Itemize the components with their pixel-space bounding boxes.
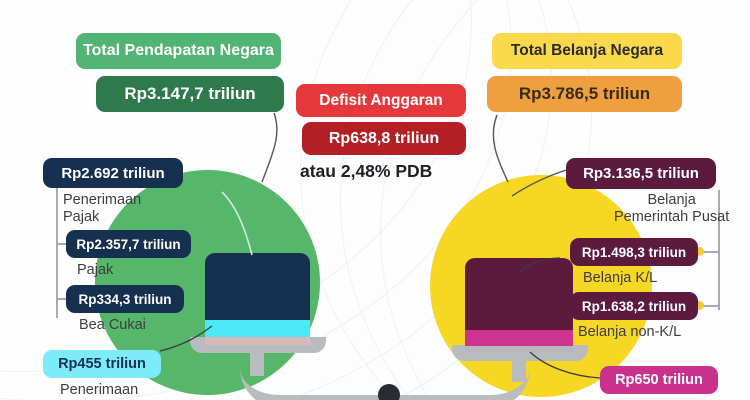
caption-line: Penerimaan <box>63 192 141 209</box>
spending-item-kl-caption: Belanja K/L <box>583 270 657 287</box>
spending-bracket-tick <box>702 251 720 253</box>
revenue-item-penerimaan-value: Rp455 triliun <box>43 350 161 378</box>
spending-header-label: Total Belanja Negara <box>492 33 682 69</box>
revenue-item-beacukai-value: Rp334,3 triliun <box>66 285 184 313</box>
deficit-total-value: Rp638,8 triliun <box>302 122 466 155</box>
revenue-stacked-bar <box>205 253 310 345</box>
spending-item-nonkl-caption: Belanja non-K/L <box>578 324 681 341</box>
deficit-header-label: Defisit Anggaran <box>296 84 466 117</box>
scale-pivot <box>378 384 400 400</box>
spending-item-central-caption: Belanja Pemerintah Pusat <box>614 192 729 226</box>
caption-line: Belanja <box>614 192 729 209</box>
deficit-pdb-note: atau 2,48% PDB <box>300 163 432 180</box>
revenue-header-label: Total Pendapatan Negara <box>76 33 281 69</box>
spending-item-transfer-value: Rp650 triliun <box>600 366 718 394</box>
revenue-total-value: Rp3.147,7 triliun <box>96 76 284 112</box>
revenue-item-pajak-caption: Pajak <box>77 262 113 279</box>
spending-item-nonkl-value: Rp1.638,2 triliun <box>570 292 698 320</box>
spending-bar-base-segment <box>465 346 573 353</box>
spending-bar-transfer-segment <box>465 330 573 346</box>
revenue-item-tax-value: Rp2.692 triliun <box>43 158 183 188</box>
revenue-item-pajak-value: Rp2.357,7 triliun <box>66 230 191 258</box>
revenue-bar-base-segment <box>205 337 310 345</box>
revenue-bar-nontax-segment <box>205 320 310 337</box>
spending-bar-central-segment <box>465 258 573 330</box>
spending-stacked-bar <box>465 258 573 353</box>
caption-line: Pajak <box>63 209 141 226</box>
caption-line: Pemerintah Pusat <box>614 209 729 226</box>
revenue-item-tax-caption: Penerimaan Pajak <box>63 192 141 226</box>
spending-bracket-tick <box>702 305 720 307</box>
spending-item-kl-value: Rp1.498,3 triliun <box>570 238 698 266</box>
revenue-item-beacukai-caption: Bea Cukai <box>79 317 146 334</box>
revenue-bar-tax-segment <box>205 253 310 320</box>
spending-item-central-value: Rp3.136,5 triliun <box>566 158 716 189</box>
infographic-canvas: Total Pendapatan Negara Rp3.147,7 triliu… <box>0 0 750 400</box>
revenue-item-penerimaan-caption: Penerimaan <box>60 382 138 399</box>
spending-total-value: Rp3.786,5 triliun <box>487 76 682 112</box>
